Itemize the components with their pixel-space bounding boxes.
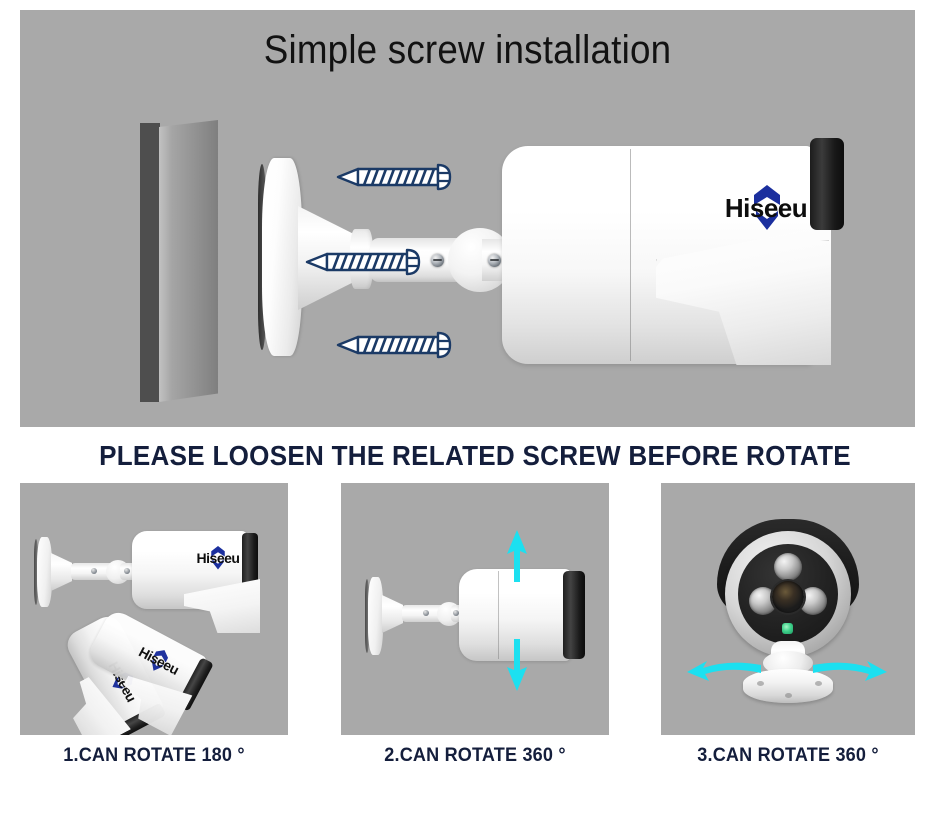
brand-wordmark: Hiseeu [714,195,818,221]
screw-icon [334,328,462,362]
mount-base-plate [368,577,383,655]
joint-screw-icon [488,254,501,267]
foot-hole [785,693,792,698]
panel-rotate-360-roll [341,483,609,735]
ir-led-icon [774,553,802,581]
camera-body-seam [498,571,499,659]
rotation-arrow-down-icon [504,639,530,691]
brand-logo: Hiseeu [714,182,818,234]
rotation-arrow-up-icon [504,530,530,582]
page-title: Simple screw installation [56,28,879,73]
panel-caption-1: 1.CAN ROTATE 180 ° [27,745,282,767]
mount-base-plate [37,537,52,607]
brand-wordmark: Hiseeu [190,551,246,565]
panel-rotate-360-pan [661,483,915,735]
pan-arrow-left-icon [685,659,761,689]
screw-icon [303,245,431,279]
joint-screw-icon [91,568,97,574]
panel-rotate-180: Hiseeu Hiseeu [20,483,288,735]
wall-surface [140,120,218,402]
camera-primary: Hiseeu [132,531,282,641]
screw-icon [334,160,462,194]
joint-screw-icon [124,568,130,574]
camera-lens-hood [563,571,585,659]
camera-body-seam [630,149,631,361]
panel-caption-3: 3.CAN ROTATE 360 ° [667,745,908,767]
hero-panel: Simple screw installation Hiseeu [20,10,915,427]
brand-logo: Hiseeu [190,545,246,571]
pan-arrow-right-icon [813,659,889,689]
mount-disc [262,158,302,356]
panel-caption-2: 2.CAN ROTATE 360 ° [348,745,603,767]
mount-neck [382,595,403,633]
joint-screw-icon [423,610,429,616]
camera-lens [772,581,804,613]
mount-base-plate [258,158,302,356]
status-led-icon [782,623,793,634]
section-subtitle: PLEASE LOOSEN THE RELATED SCREW BEFORE R… [33,440,917,472]
joint-screw-icon [431,254,444,267]
wall-edge [140,123,160,402]
wall-face [159,120,218,402]
rotation-panel-row: Hiseeu Hiseeu [0,483,950,825]
mount-neck [51,553,72,591]
